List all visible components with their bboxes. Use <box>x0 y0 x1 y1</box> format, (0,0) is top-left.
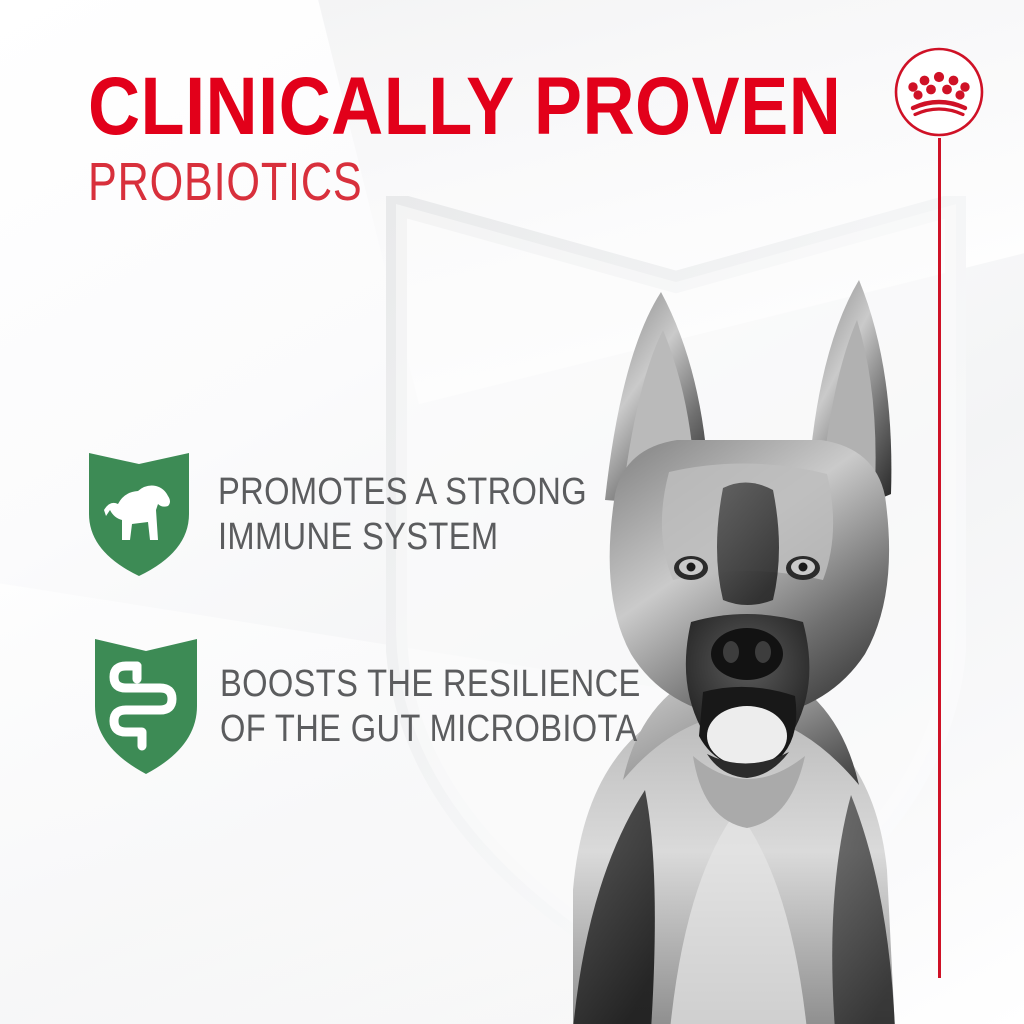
benefit-label-immune-system: PROMOTES A STRONG IMMUNE SYSTEM <box>218 470 587 560</box>
benefit-row-gut-microbiota: BOOSTS THE RESILIENCE OF THE GUT MICROBI… <box>90 634 709 779</box>
page-subtitle: PROBIOTICS <box>88 155 362 209</box>
page-title: CLINICALLY PROVEN <box>88 68 841 145</box>
shield-gut-icon <box>90 634 202 779</box>
benefit-row-immune-system: PROMOTES A STRONG IMMUNE SYSTEM <box>84 448 647 580</box>
royal-canin-crown-logo <box>893 46 985 138</box>
benefit-label-gut-microbiota: BOOSTS THE RESILIENCE OF THE GUT MICROBI… <box>220 662 641 752</box>
shield-dog-icon <box>84 448 194 580</box>
advertisement-canvas: CLINICALLY PROVEN PROBIOTICS <box>0 0 1024 1024</box>
